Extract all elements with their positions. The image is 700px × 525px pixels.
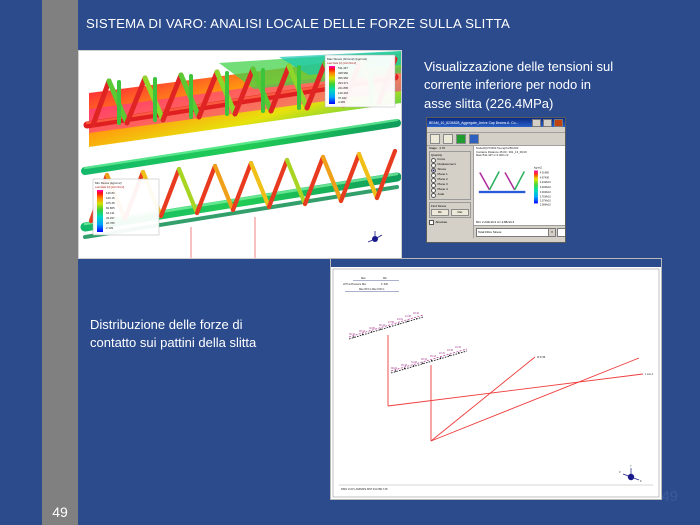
svg-text:Min: Min <box>383 277 388 280</box>
find-stress-group[interactable]: Find Stress Min Max <box>429 202 471 218</box>
page-title: SISTEMA DI VARO: ANALISI LOCALE DELLE FO… <box>86 16 646 31</box>
window-title-text: BEAM_10_8236828_Aggregate_Arrive Cap Bea… <box>429 121 530 125</box>
caption-right-line2: corrente inferiore per nodo in <box>424 76 678 94</box>
svg-text:126.15: 126.15 <box>106 196 115 200</box>
svg-text:Last Data (N) [Unit N/m2]: Last Data (N) [Unit N/m2] <box>327 61 356 65</box>
svg-text:16.02: 16.02 <box>455 346 462 349</box>
chart-icon[interactable] <box>469 134 479 144</box>
svg-text:Max: Max <box>361 277 366 280</box>
svg-text:38.24: 38.24 <box>391 367 398 370</box>
svg-text:146.83: 146.83 <box>106 191 115 195</box>
stress-type-dropdown[interactable]: Total Fibre Stress ▾ <box>476 228 556 237</box>
svg-text:36.42: 36.42 <box>349 333 356 336</box>
svg-text:22.783: 22.783 <box>106 221 115 225</box>
svg-text:18.32: 18.32 <box>413 312 420 315</box>
svg-text:2.76Mx10: 2.76Mx10 <box>540 196 552 199</box>
caption-lower-line2: contatto sui pattini della slitta <box>90 334 330 352</box>
svg-text:221.895: 221.895 <box>338 86 349 90</box>
svg-text:105.48: 105.48 <box>106 201 115 205</box>
svg-text:24.01: 24.01 <box>397 318 404 321</box>
diagram-top-bar <box>331 259 661 267</box>
svg-text:4.23Mx10: 4.23Mx10 <box>540 181 552 184</box>
open-icon[interactable] <box>430 134 440 144</box>
svg-text:438.960: 438.960 <box>338 71 349 75</box>
svg-text:25.13: 25.13 <box>430 355 437 358</box>
svg-text:LPH on/Pressure Dist: LPH on/Pressure Dist <box>343 283 366 286</box>
svg-text:35.13: 35.13 <box>359 330 366 333</box>
quantity-group[interactable]: Quantity Force Displacement Stress Plane… <box>429 151 471 200</box>
svg-text:1 mm.4: 1 mm.4 <box>645 373 654 376</box>
svg-text:27.55: 27.55 <box>388 321 395 324</box>
pencil-icon[interactable] <box>443 134 453 144</box>
slide-canvas: 49 49 SISTEMA DI VARO: ANALISI LOCALE DE… <box>0 0 700 525</box>
svg-text:84.805: 84.805 <box>106 206 115 210</box>
chevron-down-icon[interactable]: ▾ <box>548 229 555 236</box>
analysis-software-window[interactable]: BEAM_10_8236828_Aggregate_Arrive Cap Bea… <box>426 117 566 243</box>
slide-watermark: 49 <box>661 488 678 505</box>
svg-text:3.29Mx10: 3.29Mx10 <box>540 186 552 189</box>
window-plot-panel: Node(0)(3734517)Length:259.000 Contains … <box>474 146 565 238</box>
left-gray-band <box>42 0 78 525</box>
window-status-bar[interactable]: Total Fibre Stress ▾ <box>474 225 566 238</box>
svg-text:19.35: 19.35 <box>447 349 454 352</box>
stage-label: Stage: <box>429 147 438 151</box>
stress-type-value: Total Fibre Stress <box>478 230 501 234</box>
svg-text:31.06: 31.06 <box>411 361 418 364</box>
caption-right-line3: asse slitta (226.4MPa) <box>424 95 678 113</box>
svg-text:F: 528: F: 528 <box>381 283 388 286</box>
page-spinner[interactable] <box>557 228 566 237</box>
svg-text:Last Data (N) [Unit N/m2]: Last Data (N) [Unit N/m2] <box>95 185 124 189</box>
plot-footer-value: Min: 2.244x10-3 m=-2.88x10-3 <box>476 220 514 224</box>
svg-text:149.418: 149.418 <box>338 91 349 95</box>
close-icon[interactable] <box>554 119 563 127</box>
svg-text:43.457: 43.457 <box>106 216 115 220</box>
svg-text:kg/m2: kg/m2 <box>534 166 542 170</box>
svg-text:2.07Mx10: 2.07Mx10 <box>540 199 552 202</box>
svg-text:2.109: 2.109 <box>106 226 113 230</box>
slide-number: 49 <box>42 498 78 525</box>
svg-text:30.14: 30.14 <box>379 324 386 327</box>
find-min-button[interactable]: Min <box>431 209 449 216</box>
svg-text:W 2746: W 2746 <box>537 356 546 359</box>
caption-lower-line1: Distribuzione delle forze di <box>90 316 330 334</box>
absolute-checkbox[interactable]: Absolute <box>429 220 471 225</box>
caption-right: Visualizzazione delle tensioni sul corre… <box>424 58 678 113</box>
svg-text:294.371: 294.371 <box>338 81 349 85</box>
svg-text:21.66: 21.66 <box>405 315 412 318</box>
svg-text:28.44: 28.44 <box>421 358 428 361</box>
quantity-group-title: Quantity <box>431 153 469 157</box>
radio-axial[interactable]: Axial <box>431 193 469 198</box>
svg-text:Max Stress (N/mm2) (kg/cm2): Max Stress (N/mm2) (kg/cm2) <box>327 57 367 61</box>
svg-text:64.131: 64.131 <box>106 211 115 215</box>
caption-lower: Distribuzione delle forze di contatto su… <box>90 316 330 353</box>
minimize-icon[interactable] <box>532 119 541 127</box>
fea-truss-image: Max Stress (N/mm2) (kg/cm2) Last Data (N… <box>78 50 402 259</box>
svg-text:511.437: 511.437 <box>338 66 348 70</box>
svg-text:2.08Mx10: 2.08Mx10 <box>540 203 552 206</box>
svg-text:3.00Mx10: 3.00Mx10 <box>540 191 552 194</box>
svg-text:Max 45.5 G Max 8.60 G: Max 45.5 G Max 8.60 G <box>359 288 385 291</box>
svg-text:22.70: 22.70 <box>439 352 446 355</box>
window-title-bar[interactable]: BEAM_10_8236828_Aggregate_Arrive Cap Bea… <box>427 118 565 127</box>
svg-text:Min Stress (kg/cm2): Min Stress (kg/cm2) <box>95 181 122 185</box>
caption-right-line1: Visualizzazione delle tensioni sul <box>424 58 678 76</box>
window-toolbar[interactable] <box>427 133 565 146</box>
stress-plot-canvas: kg/m2 4.01480 4.97438 4.23Mx10 3.29Mx10 … <box>474 160 565 212</box>
absolute-label: Absolute <box>436 220 448 224</box>
contact-force-diagram: Max Min LPH on/Pressure Dist F: 528 Max … <box>330 258 662 500</box>
find-stress-title: Find Stress <box>431 204 469 208</box>
svg-text:32.80: 32.80 <box>369 327 376 330</box>
window-left-panel[interactable]: Stage: 4.70 Quantity Force Displacement … <box>427 146 474 238</box>
find-max-button[interactable]: Max <box>451 209 469 216</box>
svg-text:366.984: 366.984 <box>338 76 349 80</box>
plot-info-line3: Max=511.437 n=1.000 n/2 <box>476 154 563 158</box>
svg-text:SIMO 13.97 LAMINATE DIST 041: SIMO 13.97 LAMINATE DIST 041 F8D.7.08 <box>341 488 388 491</box>
svg-text:4.465: 4.465 <box>338 100 345 104</box>
run-icon[interactable] <box>456 134 466 144</box>
svg-text:4.01480: 4.01480 <box>540 171 550 174</box>
svg-text:35.18: 35.18 <box>401 364 408 367</box>
svg-text:4.97438: 4.97438 <box>540 176 550 179</box>
stage-value: 4.70 <box>439 147 445 151</box>
maximize-icon[interactable] <box>543 119 552 127</box>
